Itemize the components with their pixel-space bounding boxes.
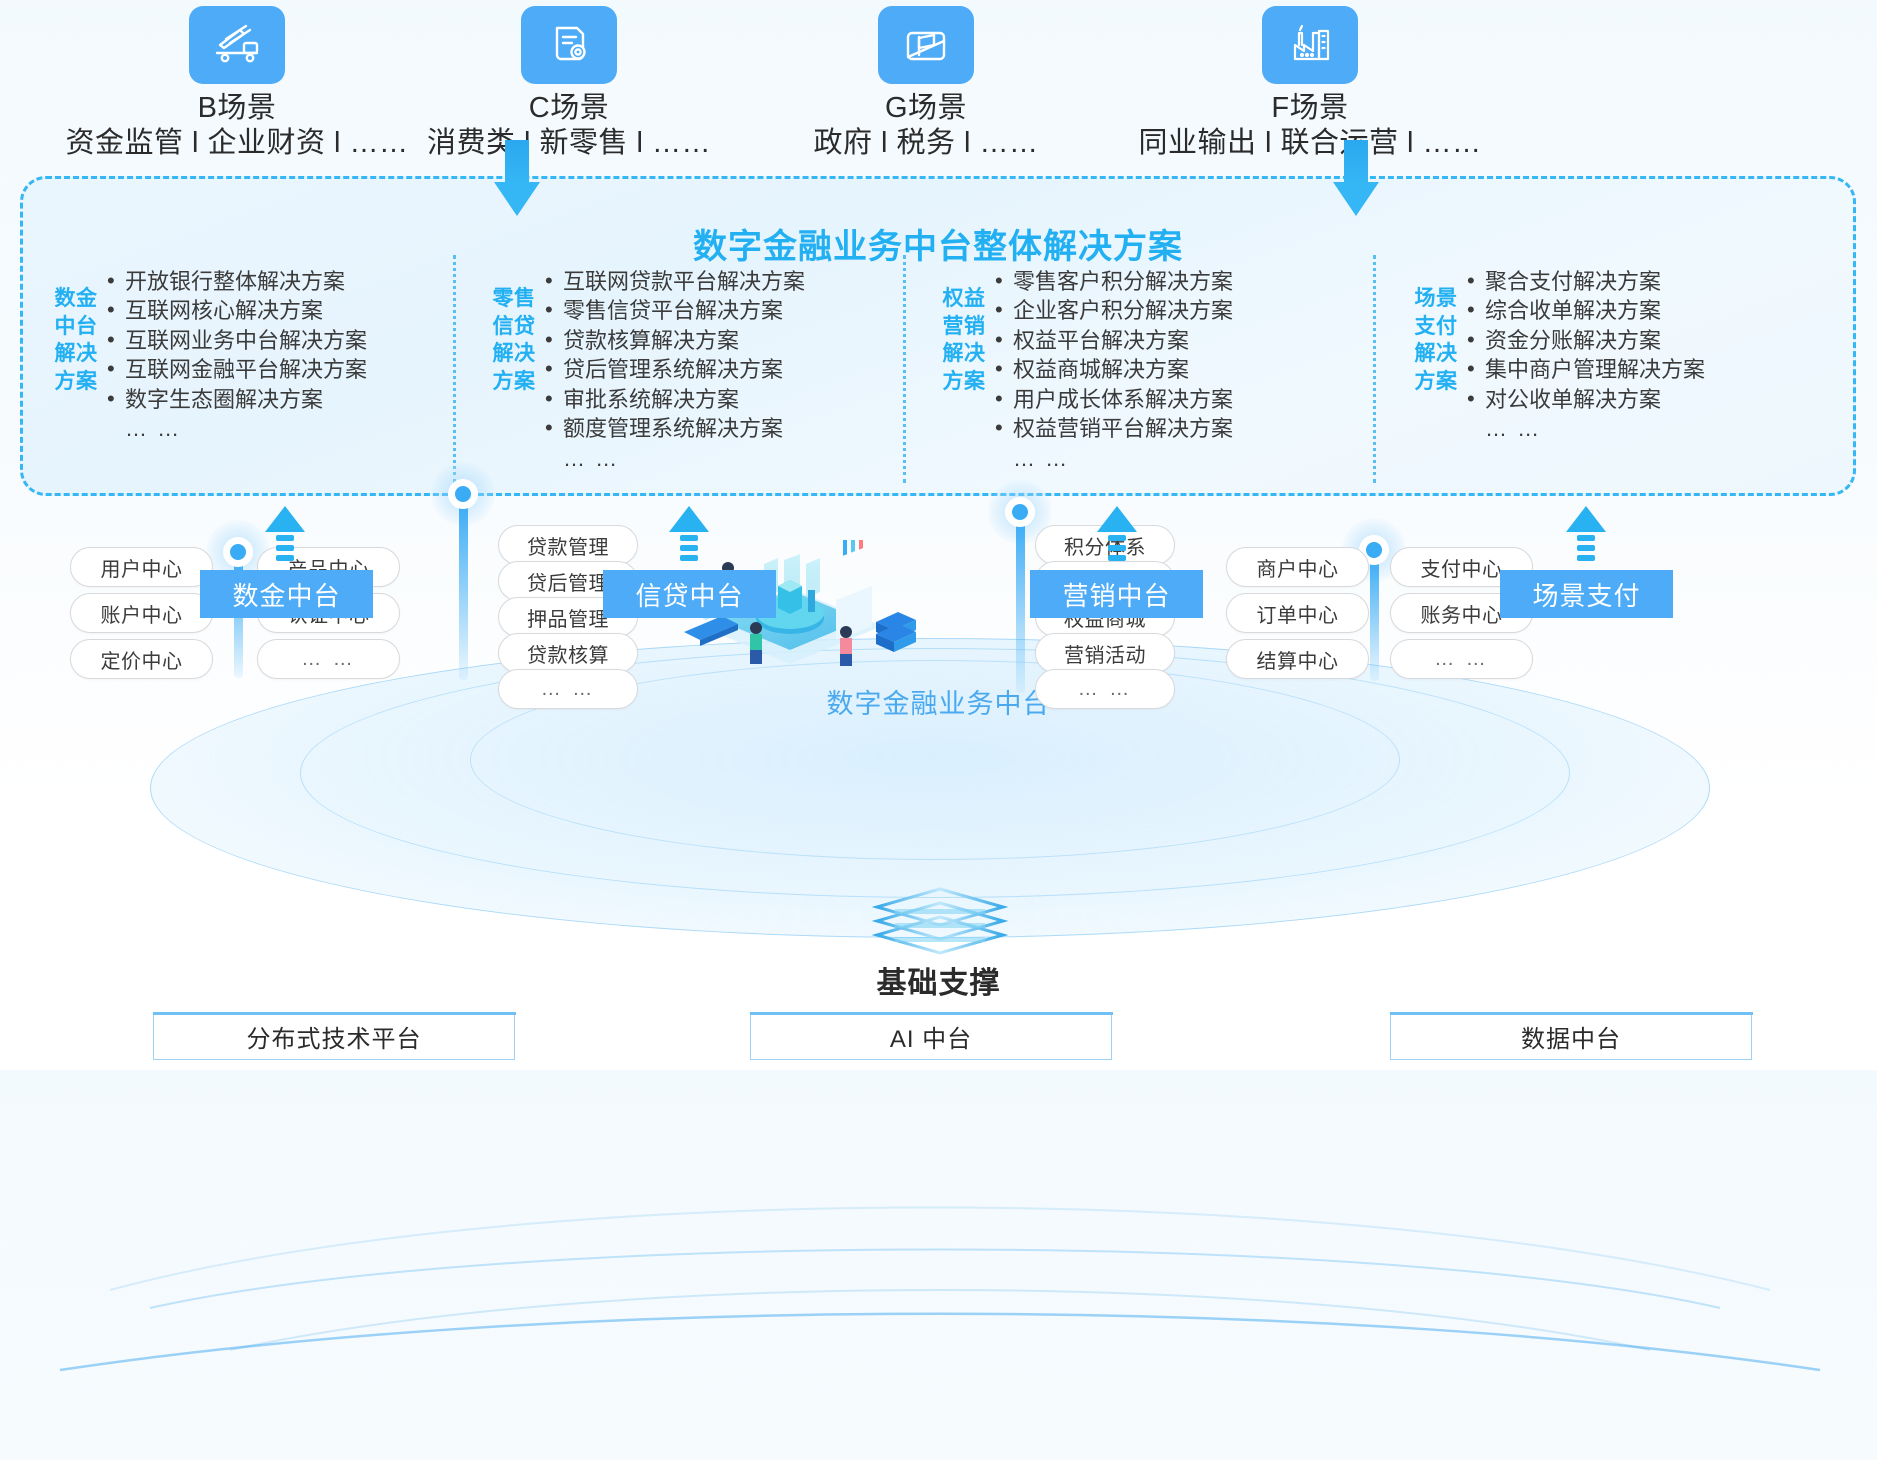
tag-line: 解决: [1405, 340, 1467, 368]
pill-account-center[interactable]: 账户中心: [70, 593, 213, 633]
list-item[interactable]: 贷款核算解决方案: [545, 326, 805, 355]
pill-more-marketing[interactable]: … …: [1035, 669, 1175, 709]
pill-order-center[interactable]: 订单中心: [1226, 593, 1369, 633]
list-item[interactable]: 对公收单解决方案: [1467, 385, 1705, 414]
down-arrow-f: [1333, 140, 1379, 220]
list-item[interactable]: 综合收单解决方案: [1467, 296, 1705, 325]
factory-icon: [1262, 6, 1358, 84]
scenario-row: B场景 资金监管 l 企业财资 l …… C场景 消费类 l 新零售 l …… …: [0, 0, 1877, 172]
scenario-detail: 政府 l 税务 l ……: [716, 125, 1136, 161]
list-ellipsis: … …: [1467, 414, 1705, 443]
solution-columns: 数金 中台 解决 方案 开放银行整体解决方案 互联网核心解决方案 互联网业务中台…: [23, 253, 1853, 493]
pill-loan-accounting[interactable]: 贷款核算: [498, 633, 638, 673]
solution-panel: 数字金融业务中台整体解决方案 数金 中台 解决 方案 开放银行整体解决方案 互联…: [20, 176, 1856, 496]
column-tag: 数金 中台 解决 方案: [45, 285, 107, 396]
list-item[interactable]: 资金分账解决方案: [1467, 326, 1705, 355]
pill-settlement-center[interactable]: 结算中心: [1226, 639, 1369, 679]
list-item[interactable]: 互联网核心解决方案: [107, 296, 367, 325]
scenario-card-g[interactable]: G场景 政府 l 税务 l ……: [716, 6, 1136, 162]
base-box-distributed-platform[interactable]: 分布式技术平台: [153, 1012, 515, 1060]
list-item[interactable]: 互联网金融平台解决方案: [107, 355, 367, 384]
layered-stack-icon: [865, 885, 1015, 955]
up-arrow-marketing: [1097, 506, 1137, 574]
tag-line: 方案: [483, 368, 545, 396]
tag-line: 场景: [1405, 285, 1467, 313]
up-arrow-digital-finance: [265, 506, 305, 574]
column-tag: 权益 营销 解决 方案: [933, 285, 995, 396]
solution-column-rights-marketing[interactable]: 权益 营销 解决 方案 零售客户积分解决方案 企业客户积分解决方案 权益平台解决…: [903, 253, 1373, 493]
solution-column-digital-finance[interactable]: 数金 中台 解决 方案 开放银行整体解决方案 互联网核心解决方案 互联网业务中台…: [23, 253, 453, 493]
list-item[interactable]: 用户成长体系解决方案: [995, 385, 1233, 414]
pill-pricing-center[interactable]: 定价中心: [70, 639, 213, 679]
list-item[interactable]: 数字生态圈解决方案: [107, 385, 367, 414]
list-item[interactable]: 互联网贷款平台解决方案: [545, 267, 805, 296]
tag-line: 方案: [933, 368, 995, 396]
tag-line: 解决: [45, 340, 107, 368]
pill-merchant-center[interactable]: 商户中心: [1226, 547, 1369, 587]
list-ellipsis: … …: [995, 444, 1233, 473]
list-item[interactable]: 集中商户管理解决方案: [1467, 355, 1705, 384]
pill-more-payment[interactable]: … …: [1390, 639, 1533, 679]
list-item[interactable]: 开放银行整体解决方案: [107, 267, 367, 296]
base-support-title: 基础支撑: [0, 958, 1877, 1002]
document-seal-icon: [521, 6, 617, 84]
column-tag: 场景 支付 解决 方案: [1405, 285, 1467, 396]
tag-line: 支付: [1405, 313, 1467, 341]
platform-box-marketing[interactable]: 营销中台: [1030, 570, 1203, 618]
solution-list: 开放银行整体解决方案 互联网核心解决方案 互联网业务中台解决方案 互联网金融平台…: [107, 267, 367, 444]
stage-label: 数字金融业务中台: [0, 682, 1877, 721]
list-item[interactable]: 权益商城解决方案: [995, 355, 1233, 384]
solution-list: 聚合支付解决方案 综合收单解决方案 资金分账解决方案 集中商户管理解决方案 对公…: [1467, 267, 1705, 444]
stage-flow-curves: [0, 1040, 1877, 1460]
list-item[interactable]: 权益平台解决方案: [995, 326, 1233, 355]
tag-line: 解决: [933, 340, 995, 368]
scenario-code: F场景: [1100, 92, 1520, 125]
tag-line: 信贷: [483, 313, 545, 341]
platform-box-credit[interactable]: 信贷中台: [603, 570, 776, 618]
list-item[interactable]: 额度管理系统解决方案: [545, 414, 805, 443]
up-arrow-credit: [669, 506, 709, 574]
solution-list: 互联网贷款平台解决方案 零售信贷平台解决方案 贷款核算解决方案 贷后管理系统解决…: [545, 267, 805, 473]
tag-line: 营销: [933, 313, 995, 341]
tag-line: 中台: [45, 313, 107, 341]
solution-list: 零售客户积分解决方案 企业客户积分解决方案 权益平台解决方案 权益商城解决方案 …: [995, 267, 1233, 473]
scenario-card-f[interactable]: F场景 同业输出 l 联合运营 l ……: [1100, 6, 1520, 162]
truck-cargo-icon: [189, 6, 285, 84]
tag-line: 方案: [1405, 368, 1467, 396]
list-item[interactable]: 企业客户积分解决方案: [995, 296, 1233, 325]
down-arrow-c: [494, 140, 540, 220]
pill-more-credit[interactable]: … …: [498, 669, 638, 709]
list-item[interactable]: 权益营销平台解决方案: [995, 414, 1233, 443]
up-arrow-payment: [1566, 506, 1606, 574]
list-item[interactable]: 零售信贷平台解决方案: [545, 296, 805, 325]
list-ellipsis: … …: [107, 414, 367, 443]
list-item[interactable]: 互联网业务中台解决方案: [107, 326, 367, 355]
pill-loan-management[interactable]: 贷款管理: [498, 525, 638, 565]
platform-box-digital-finance[interactable]: 数金中台: [200, 570, 373, 618]
tag-line: 方案: [45, 368, 107, 396]
scenario-detail: 同业输出 l 联合运营 l ……: [1100, 125, 1520, 161]
tag-line: 解决: [483, 340, 545, 368]
pill-more-digital-finance[interactable]: … …: [257, 639, 400, 679]
pill-user-center[interactable]: 用户中心: [70, 547, 213, 587]
tag-line: 数金: [45, 285, 107, 313]
base-box-ai-platform[interactable]: AI 中台: [750, 1012, 1112, 1060]
column-tag: 零售 信贷 解决 方案: [483, 285, 545, 396]
list-item[interactable]: 零售客户积分解决方案: [995, 267, 1233, 296]
list-ellipsis: … …: [545, 444, 805, 473]
list-item[interactable]: 审批系统解决方案: [545, 385, 805, 414]
solution-column-retail-credit[interactable]: 零售 信贷 解决 方案 互联网贷款平台解决方案 零售信贷平台解决方案 贷款核算解…: [453, 253, 903, 493]
tag-line: 权益: [933, 285, 995, 313]
map-flag-icon: [878, 6, 974, 84]
base-box-data-platform[interactable]: 数据中台: [1390, 1012, 1752, 1060]
list-item[interactable]: 贷后管理系统解决方案: [545, 355, 805, 384]
solution-column-scenario-payment[interactable]: 场景 支付 解决 方案 聚合支付解决方案 综合收单解决方案 资金分账解决方案 集…: [1373, 253, 1823, 493]
list-item[interactable]: 聚合支付解决方案: [1467, 267, 1705, 296]
platform-box-payment[interactable]: 场景支付: [1500, 570, 1673, 618]
tag-line: 零售: [483, 285, 545, 313]
pill-marketing-campaign[interactable]: 营销活动: [1035, 633, 1175, 673]
scenario-code: G场景: [716, 92, 1136, 125]
